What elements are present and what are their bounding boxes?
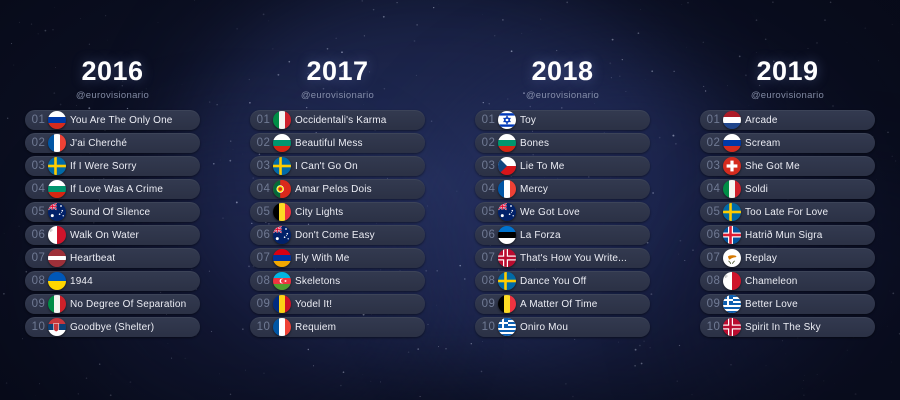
rank-number: 01 xyxy=(29,114,48,126)
rank-number: 04 xyxy=(29,183,48,195)
song-title: Amar Pelos Dois xyxy=(295,184,425,195)
ranking-row[interactable]: 06Don't Come Easy xyxy=(250,225,425,245)
song-title: Don't Come Easy xyxy=(295,230,425,241)
year-column-2018: 2018@eurovisionario01Toy02Bones03Lie To … xyxy=(450,0,675,400)
song-title: Bones xyxy=(520,138,650,149)
ranking-list: 01Arcade02Scream03She Got Me04Soldi05Too… xyxy=(675,110,900,337)
song-title: J'ai Cherché xyxy=(70,138,200,149)
norway-flag-icon xyxy=(723,318,741,336)
rank-number: 03 xyxy=(254,160,273,172)
rank-number: 01 xyxy=(704,114,723,126)
song-title: If I Were Sorry xyxy=(70,161,200,172)
ranking-row[interactable]: 07Heartbeat xyxy=(25,248,200,268)
ranking-row[interactable]: 04Amar Pelos Dois xyxy=(250,179,425,199)
ranking-row[interactable]: 08Dance You Off xyxy=(475,271,650,291)
ranking-row[interactable]: 09No Degree Of Separation xyxy=(25,294,200,314)
rank-number: 02 xyxy=(479,137,498,149)
armenia-flag-icon xyxy=(273,249,291,267)
ranking-row[interactable]: 081944 xyxy=(25,271,200,291)
ranking-row[interactable]: 01You Are The Only One xyxy=(25,110,200,130)
ranking-row[interactable]: 06Walk On Water xyxy=(25,225,200,245)
rank-number: 04 xyxy=(254,183,273,195)
ranking-row[interactable]: 05Too Late For Love xyxy=(700,202,875,222)
rank-number: 06 xyxy=(479,229,498,241)
belgium-flag-icon xyxy=(273,203,291,221)
rank-number: 08 xyxy=(29,275,48,287)
sweden-flag-icon xyxy=(723,203,741,221)
belgium-flag-icon xyxy=(498,295,516,313)
song-title: Mercy xyxy=(520,184,650,195)
romania-flag-icon xyxy=(273,295,291,313)
rank-number: 08 xyxy=(704,275,723,287)
author-handle: @eurovisionario xyxy=(675,90,900,101)
rank-number: 04 xyxy=(479,183,498,195)
author-handle: @eurovisionario xyxy=(225,90,450,101)
song-title: Arcade xyxy=(745,115,875,126)
ranking-row[interactable]: 07Replay xyxy=(700,248,875,268)
ranking-row[interactable]: 06Hatrið Mun Sigra xyxy=(700,225,875,245)
ranking-list: 01Occidentali's Karma02Beautiful Mess03I… xyxy=(225,110,450,337)
rank-number: 04 xyxy=(704,183,723,195)
rank-number: 07 xyxy=(29,252,48,264)
song-title: She Got Me xyxy=(745,161,875,172)
ranking-row[interactable]: 05City Lights xyxy=(250,202,425,222)
estonia-flag-icon xyxy=(498,226,516,244)
rank-number: 06 xyxy=(704,229,723,241)
czechia-flag-icon xyxy=(498,157,516,175)
rank-number: 02 xyxy=(29,137,48,149)
year-title: 2018 xyxy=(450,58,675,85)
ranking-row[interactable]: 01Arcade xyxy=(700,110,875,130)
ranking-row[interactable]: 05We Got Love xyxy=(475,202,650,222)
song-title: City Lights xyxy=(295,207,425,218)
rank-number: 02 xyxy=(704,137,723,149)
song-title: If Love Was A Crime xyxy=(70,184,200,195)
song-title: Yodel It! xyxy=(295,299,425,310)
ranking-row[interactable]: 07That's How You Write... xyxy=(475,248,650,268)
rank-number: 07 xyxy=(704,252,723,264)
song-title: That's How You Write... xyxy=(520,253,650,264)
year-title: 2017 xyxy=(225,58,450,85)
rank-number: 02 xyxy=(254,137,273,149)
song-title: Lie To Me xyxy=(520,161,650,172)
song-title: Dance You Off xyxy=(520,276,650,287)
song-title: Better Love xyxy=(745,299,875,310)
serbia-flag-icon xyxy=(48,318,66,336)
rank-number: 09 xyxy=(29,298,48,310)
rank-number: 05 xyxy=(29,206,48,218)
rank-number: 05 xyxy=(479,206,498,218)
ranking-row[interactable]: 06La Forza xyxy=(475,225,650,245)
iceland-flag-icon xyxy=(723,226,741,244)
ranking-row[interactable]: 03She Got Me xyxy=(700,156,875,176)
rank-number: 07 xyxy=(479,252,498,264)
russia-flag-icon xyxy=(48,111,66,129)
italy-flag-icon xyxy=(723,180,741,198)
author-handle: @eurovisionario xyxy=(450,90,675,101)
column-header: 2019@eurovisionario xyxy=(675,58,900,101)
ranking-row[interactable]: 09Better Love xyxy=(700,294,875,314)
malta-flag-icon xyxy=(723,272,741,290)
song-title: Sound Of Silence xyxy=(70,207,200,218)
rank-number: 05 xyxy=(254,206,273,218)
song-title: La Forza xyxy=(520,230,650,241)
ranking-board: 2016@eurovisionario01You Are The Only On… xyxy=(0,0,900,400)
greece-flag-icon xyxy=(498,318,516,336)
ranking-row[interactable]: 10Goodbye (Shelter) xyxy=(25,317,200,337)
bulgaria-flag-icon xyxy=(48,180,66,198)
australia-flag-icon xyxy=(273,226,291,244)
song-title: Walk On Water xyxy=(70,230,200,241)
song-title: Requiem xyxy=(295,322,425,333)
bulgaria-flag-icon xyxy=(498,134,516,152)
rank-number: 03 xyxy=(704,160,723,172)
song-title: Occidentali's Karma xyxy=(295,115,425,126)
rank-number: 03 xyxy=(479,160,498,172)
ranking-row[interactable]: 03Lie To Me xyxy=(475,156,650,176)
ranking-row[interactable]: 01Occidentali's Karma xyxy=(250,110,425,130)
norway-flag-icon xyxy=(498,249,516,267)
year-column-2019: 2019@eurovisionario01Arcade02Scream03She… xyxy=(675,0,900,400)
france-flag-icon xyxy=(48,134,66,152)
ranking-row[interactable]: 05Sound Of Silence xyxy=(25,202,200,222)
ranking-row[interactable]: 02Beautiful Mess xyxy=(250,133,425,153)
ranking-row[interactable]: 04Mercy xyxy=(475,179,650,199)
ranking-row[interactable]: 09Yodel It! xyxy=(250,294,425,314)
rank-number: 10 xyxy=(254,321,273,333)
ranking-row[interactable]: 07Fly With Me xyxy=(250,248,425,268)
song-title: Scream xyxy=(745,138,875,149)
bulgaria-flag-icon xyxy=(273,134,291,152)
author-handle: @eurovisionario xyxy=(0,90,225,101)
italy-flag-icon xyxy=(48,295,66,313)
rank-number: 09 xyxy=(479,298,498,310)
france-flag-icon xyxy=(498,180,516,198)
song-title: Chameleon xyxy=(745,276,875,287)
sweden-flag-icon xyxy=(48,157,66,175)
greece-flag-icon xyxy=(723,295,741,313)
rank-number: 06 xyxy=(29,229,48,241)
song-title: Soldi xyxy=(745,184,875,195)
song-title: Heartbeat xyxy=(70,253,200,264)
song-title: I Can't Go On xyxy=(295,161,425,172)
year-column-2017: 2017@eurovisionario01Occidentali's Karma… xyxy=(225,0,450,400)
rank-number: 03 xyxy=(29,160,48,172)
australia-flag-icon xyxy=(48,203,66,221)
song-title: Goodbye (Shelter) xyxy=(70,322,200,333)
ranking-row[interactable]: 04Soldi xyxy=(700,179,875,199)
australia-flag-icon xyxy=(498,203,516,221)
song-title: Skeletons xyxy=(295,276,425,287)
ranking-row[interactable]: 01Toy xyxy=(475,110,650,130)
song-title: Spirit In The Sky xyxy=(745,322,875,333)
column-header: 2017@eurovisionario xyxy=(225,58,450,101)
song-title: We Got Love xyxy=(520,207,650,218)
year-title: 2019 xyxy=(675,58,900,85)
azerbaijan-flag-icon xyxy=(273,272,291,290)
song-title: A Matter Of Time xyxy=(520,299,650,310)
ranking-row[interactable]: 02Scream xyxy=(700,133,875,153)
rank-number: 06 xyxy=(254,229,273,241)
song-title: Replay xyxy=(745,253,875,264)
israel-flag-icon xyxy=(498,111,516,129)
russia-flag-icon xyxy=(723,134,741,152)
rank-number: 09 xyxy=(254,298,273,310)
rank-number: 10 xyxy=(479,321,498,333)
portugal-flag-icon xyxy=(273,180,291,198)
rank-number: 05 xyxy=(704,206,723,218)
rank-number: 10 xyxy=(704,321,723,333)
malta-flag-icon xyxy=(48,226,66,244)
ranking-row[interactable]: 04If Love Was A Crime xyxy=(25,179,200,199)
ukraine-flag-icon xyxy=(48,272,66,290)
song-title: Toy xyxy=(520,115,650,126)
ranking-row[interactable]: 02J'ai Cherché xyxy=(25,133,200,153)
column-header: 2016@eurovisionario xyxy=(0,58,225,101)
rank-number: 07 xyxy=(254,252,273,264)
column-header: 2018@eurovisionario xyxy=(450,58,675,101)
ranking-row[interactable]: 10Requiem xyxy=(250,317,425,337)
ranking-row[interactable]: 03I Can't Go On xyxy=(250,156,425,176)
sweden-flag-icon xyxy=(498,272,516,290)
song-title: Hatrið Mun Sigra xyxy=(745,230,875,241)
italy-flag-icon xyxy=(273,111,291,129)
cyprus-flag-icon xyxy=(723,249,741,267)
rank-number: 08 xyxy=(254,275,273,287)
song-title: Fly With Me xyxy=(295,253,425,264)
sweden-flag-icon xyxy=(273,157,291,175)
song-title: Beautiful Mess xyxy=(295,138,425,149)
year-column-2016: 2016@eurovisionario01You Are The Only On… xyxy=(0,0,225,400)
song-title: No Degree Of Separation xyxy=(70,299,200,310)
ranking-row[interactable]: 03If I Were Sorry xyxy=(25,156,200,176)
ranking-row[interactable]: 08Chameleon xyxy=(700,271,875,291)
ranking-list: 01Toy02Bones03Lie To Me04Mercy05We Got L… xyxy=(450,110,675,337)
ranking-row[interactable]: 10Oniro Mou xyxy=(475,317,650,337)
song-title: Too Late For Love xyxy=(745,207,875,218)
latvia-flag-icon xyxy=(48,249,66,267)
netherlands-flag-icon xyxy=(723,111,741,129)
rank-number: 01 xyxy=(479,114,498,126)
ranking-row[interactable]: 10Spirit In The Sky xyxy=(700,317,875,337)
song-title: 1944 xyxy=(70,276,200,287)
france-flag-icon xyxy=(273,318,291,336)
ranking-row[interactable]: 08Skeletons xyxy=(250,271,425,291)
switzerland-flag-icon xyxy=(723,157,741,175)
ranking-list: 01You Are The Only One02J'ai Cherché03If… xyxy=(0,110,225,337)
song-title: You Are The Only One xyxy=(70,115,200,126)
ranking-row[interactable]: 09A Matter Of Time xyxy=(475,294,650,314)
song-title: Oniro Mou xyxy=(520,322,650,333)
rank-number: 08 xyxy=(479,275,498,287)
rank-number: 10 xyxy=(29,321,48,333)
rank-number: 01 xyxy=(254,114,273,126)
rank-number: 09 xyxy=(704,298,723,310)
year-title: 2016 xyxy=(0,58,225,85)
ranking-row[interactable]: 02Bones xyxy=(475,133,650,153)
